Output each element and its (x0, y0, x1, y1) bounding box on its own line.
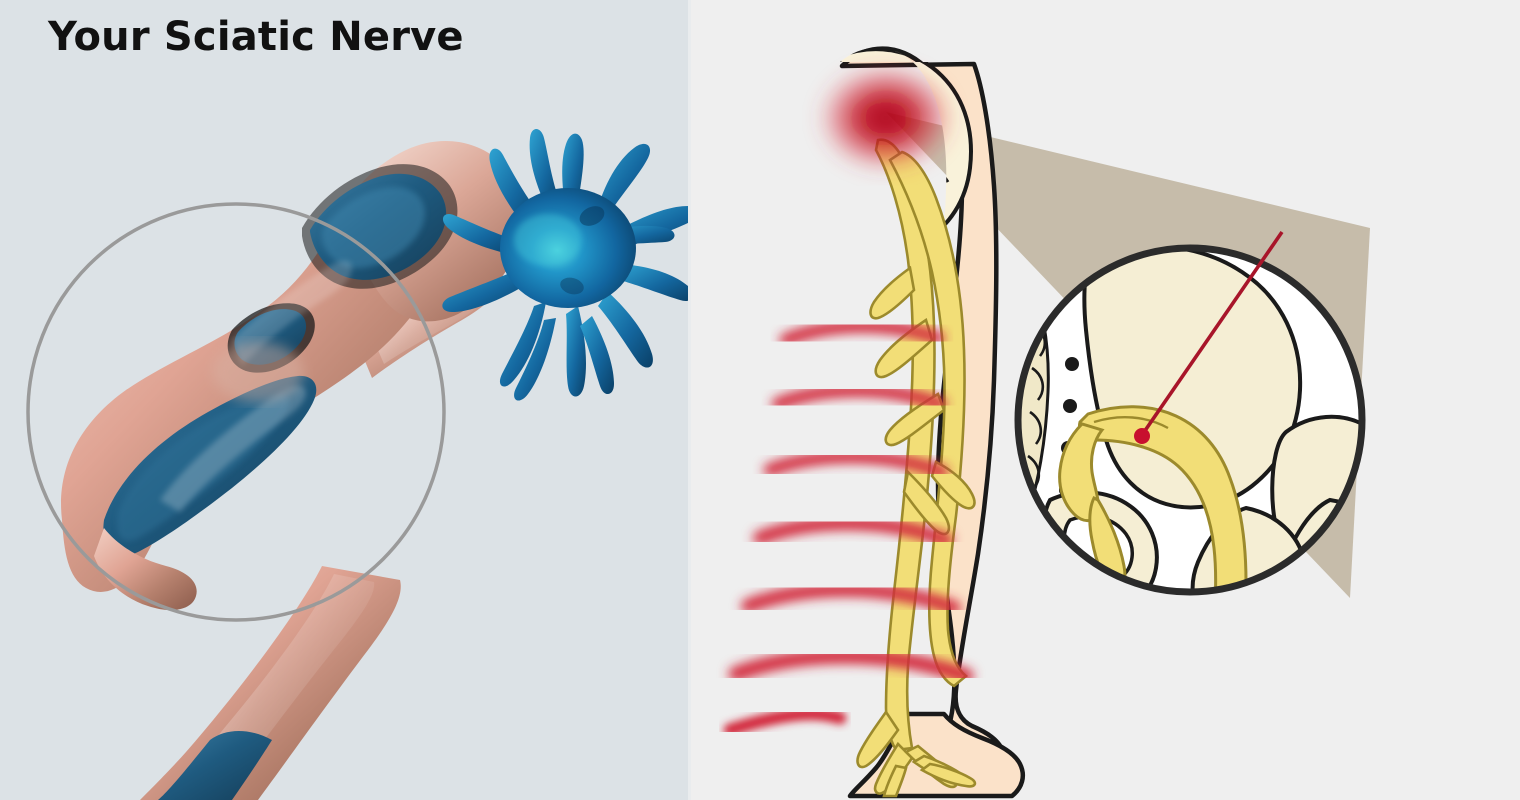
nerve-axon-illustration (0, 0, 690, 800)
panel-divider (688, 0, 691, 800)
right-panel: SCIATIC NERVE Pain from sciatica radiate… (690, 0, 1520, 800)
pain-hotspot (816, 62, 956, 174)
infographic-root: Your Sciatic Nerve (0, 0, 1520, 800)
page-title: Your Sciatic Nerve (48, 14, 464, 60)
leg-anatomy-illustration (690, 0, 1520, 800)
left-panel: Your Sciatic Nerve (0, 0, 690, 800)
